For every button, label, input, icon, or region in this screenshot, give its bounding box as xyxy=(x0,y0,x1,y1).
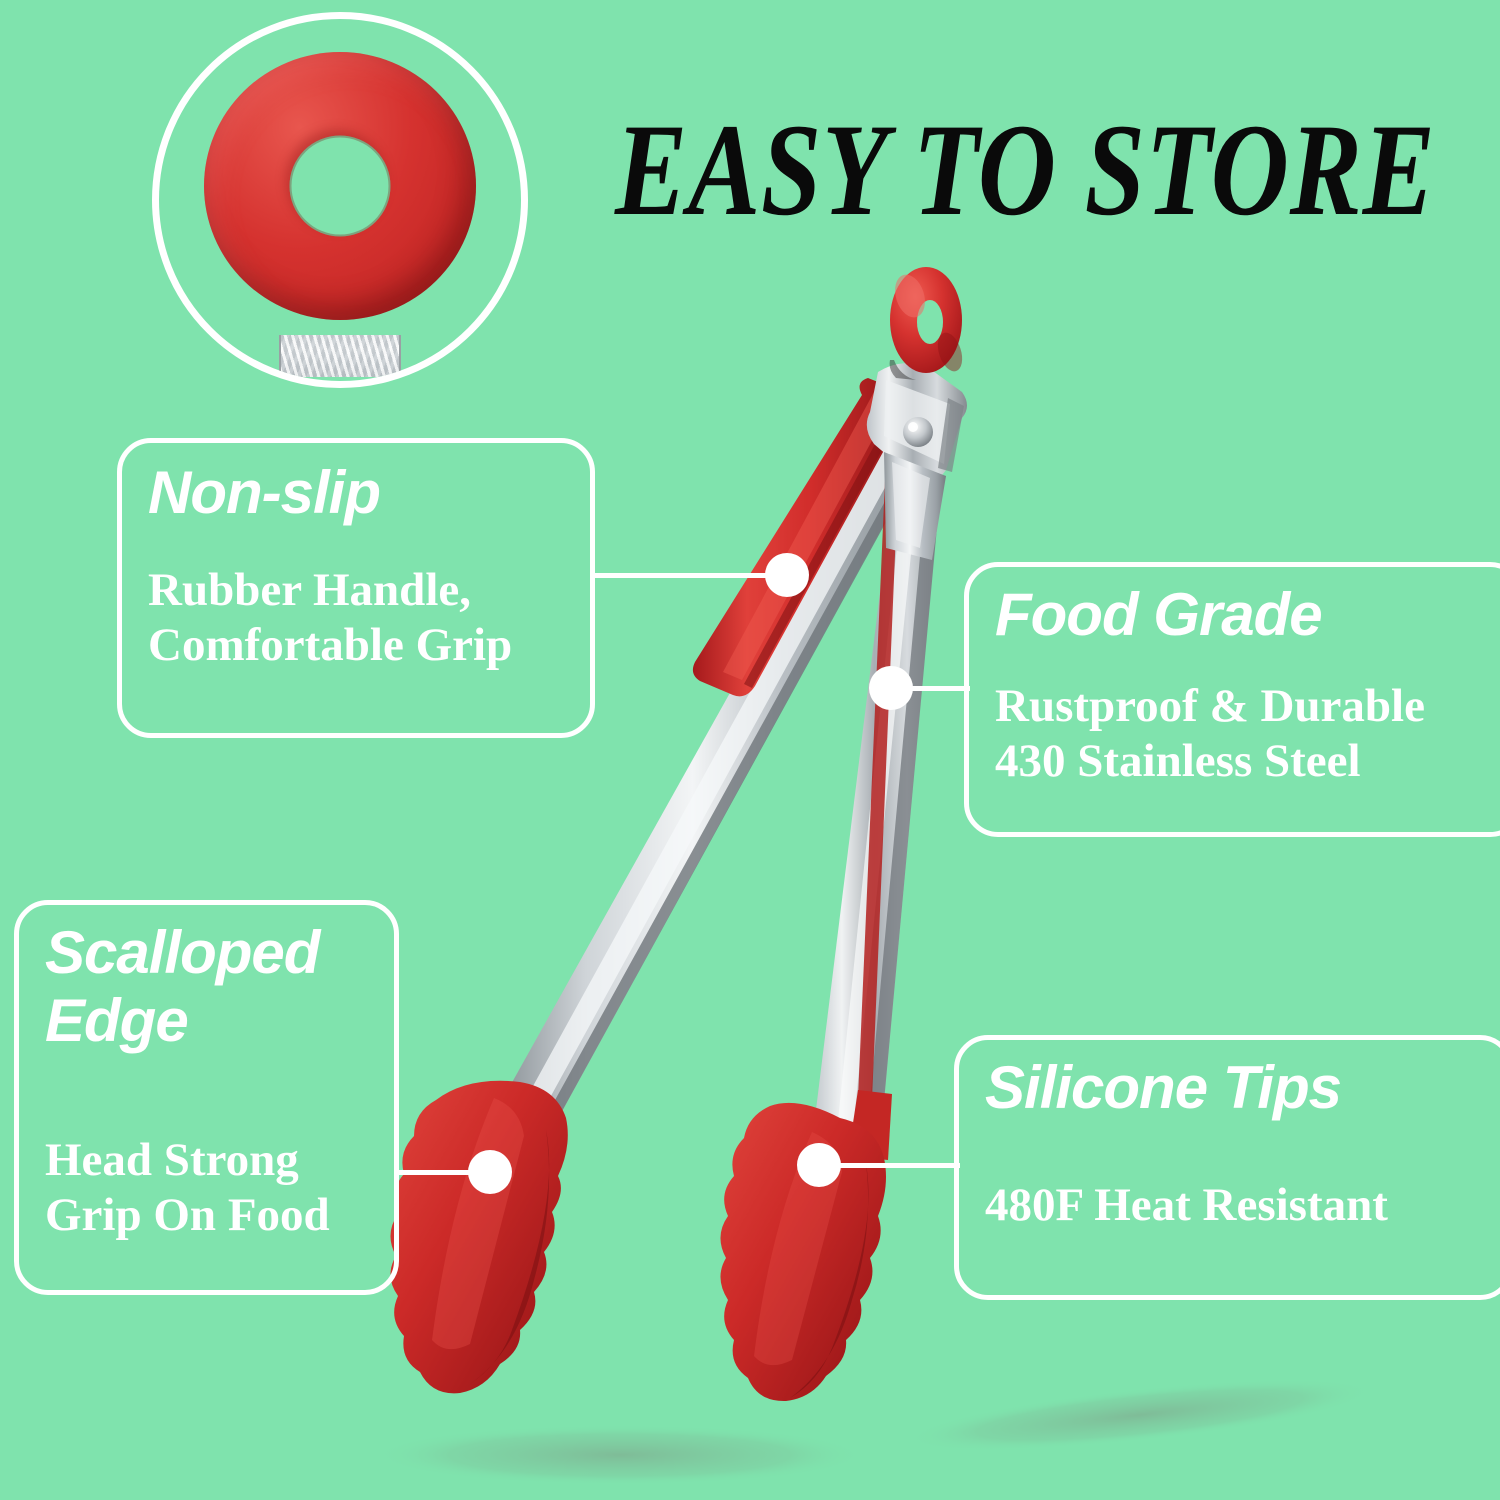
leader-dot-scalloped xyxy=(468,1150,512,1194)
inset-red-loop xyxy=(204,52,476,320)
callout-nonslip: Non-slip Rubber Handle, Comfortable Grip xyxy=(117,438,595,738)
callout-foodgrade-heading: Food Grade xyxy=(995,581,1497,649)
leader-dot-silicone xyxy=(797,1143,841,1187)
leader-line-nonslip xyxy=(590,573,790,578)
page-title: EASY TO STORE xyxy=(615,95,1279,245)
callout-nonslip-heading: Non-slip xyxy=(148,459,568,527)
leader-dot-foodgrade xyxy=(869,666,913,710)
callout-foodgrade-body: Rustproof & Durable 430 Stainless Steel xyxy=(995,679,1497,789)
callout-scalloped-heading: Scalloped Edge xyxy=(45,919,372,1055)
callout-scalloped: Scalloped Edge Head Strong Grip On Food xyxy=(14,900,399,1295)
leader-line-silicone xyxy=(820,1163,960,1168)
callout-scalloped-body: Head Strong Grip On Food xyxy=(45,1133,372,1243)
callout-silicone-heading: Silicone Tips xyxy=(985,1054,1487,1122)
leader-dot-nonslip xyxy=(765,553,809,597)
callout-silicone: Silicone Tips 480F Heat Resistant xyxy=(954,1035,1500,1300)
hanging-loop-closeup-inset xyxy=(152,12,528,388)
callout-foodgrade: Food Grade Rustproof & Durable 430 Stain… xyxy=(964,562,1500,837)
inset-steel-base xyxy=(279,335,401,377)
infographic-canvas: EASY TO STORE Non-slip Rubber Handle, Co… xyxy=(0,0,1500,1500)
callout-nonslip-body: Rubber Handle, Comfortable Grip xyxy=(148,563,568,673)
callout-silicone-body: 480F Heat Resistant xyxy=(985,1178,1487,1233)
